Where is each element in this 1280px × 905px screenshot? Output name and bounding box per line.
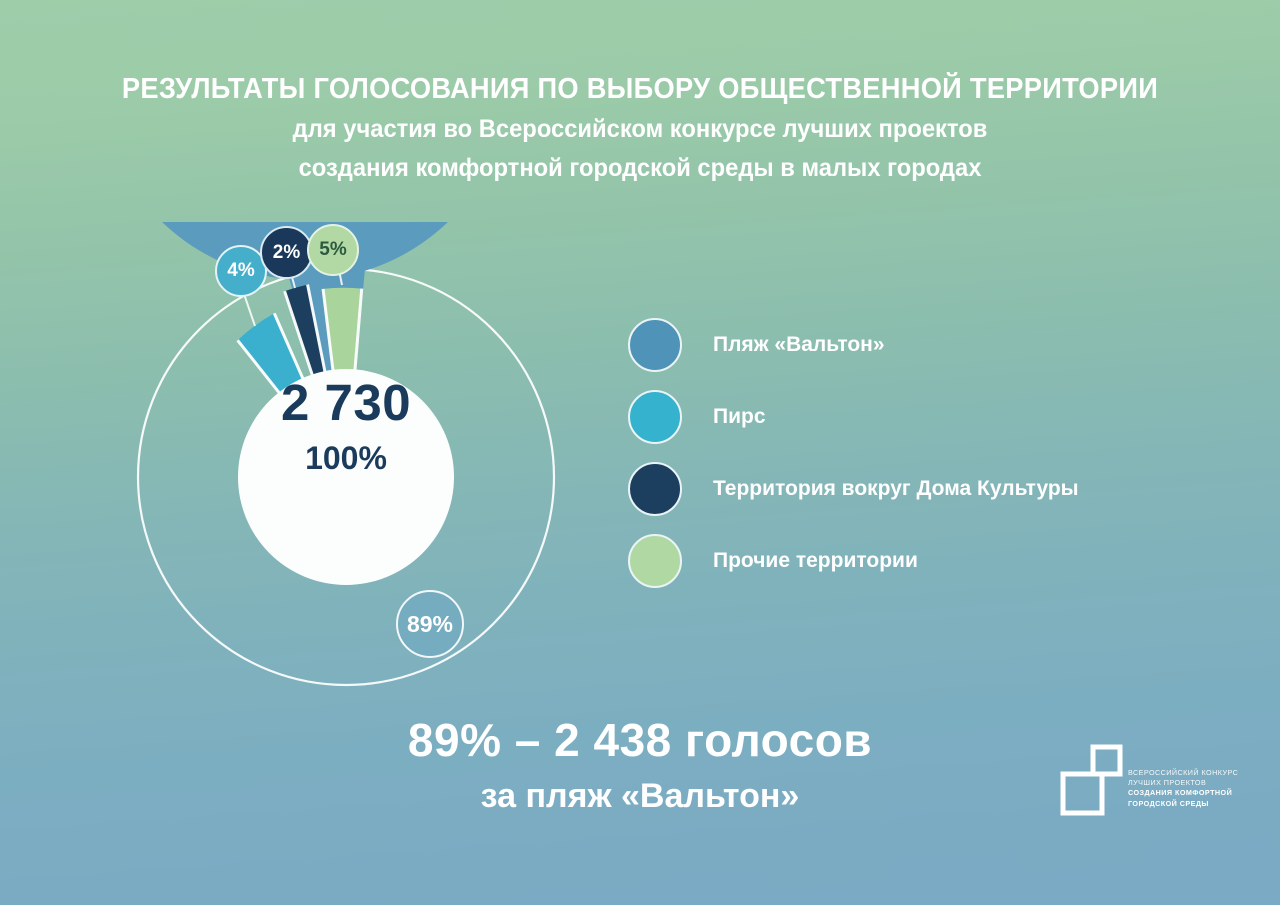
competition-logo: ВСЕРОССИЙСКИЙ КОНКУРС ЛУЧШИХ ПРОЕКТОВ СО… <box>1060 744 1240 826</box>
logo-squares-icon <box>1060 744 1124 816</box>
logo-text-block: ВСЕРОССИЙСКИЙ КОНКУРС ЛУЧШИХ ПРОЕКТОВ СО… <box>1128 768 1238 809</box>
legend-swatch-icon-other <box>628 534 682 588</box>
logo-line-3: СОЗДАНИЯ КОМФОРТНОЙ <box>1128 788 1238 798</box>
legend-label-culture-house: Территория вокруг Дома Культуры <box>713 477 1079 501</box>
title-block: РЕЗУЛЬТАТЫ ГОЛОСОВАНИЯ ПО ВЫБОРУ ОБЩЕСТВ… <box>0 72 1280 186</box>
legend-label-beach: Пляж «Вальтон» <box>713 333 885 357</box>
chart-legend: Пляж «Вальтон» Пирс Территория вокруг До… <box>628 309 1228 597</box>
logo-line-1: ВСЕРОССИЙСКИЙ КОНКУРС <box>1128 768 1238 778</box>
legend-label-other: Прочие территории <box>713 549 918 573</box>
legend-swatch-icon-pier <box>628 390 682 444</box>
legend-swatch-icon-beach <box>628 318 682 372</box>
legend-item-other: Прочие территории <box>628 525 1228 597</box>
page-subtitle-line-2: создания комфортной городской среды в ма… <box>32 151 1248 186</box>
callout-bubble-culture-house: 2% <box>260 226 313 279</box>
legend-item-beach: Пляж «Вальтон» <box>628 309 1228 381</box>
legend-item-culture-house: Территория вокруг Дома Культуры <box>628 453 1228 525</box>
callout-bubble-other: 5% <box>307 224 359 276</box>
logo-line-2: ЛУЧШИХ ПРОЕКТОВ <box>1128 778 1238 788</box>
infographic-poster: РЕЗУЛЬТАТЫ ГОЛОСОВАНИЯ ПО ВЫБОРУ ОБЩЕСТВ… <box>0 0 1280 905</box>
page-subtitle-line-1: для участия во Всероссийском конкурсе лу… <box>32 112 1248 147</box>
callout-bubble-beach: 89% <box>396 590 464 658</box>
page-title: РЕЗУЛЬТАТЫ ГОЛОСОВАНИЯ ПО ВЫБОРУ ОБЩЕСТВ… <box>38 72 1241 107</box>
donut-hole <box>238 369 454 585</box>
donut-chart: 2 730 100% 4% 2% 5% 89% <box>118 222 608 692</box>
logo-line-4: ГОРОДСКОЙ СРЕДЫ <box>1128 799 1238 809</box>
donut-chart-svg <box>118 222 608 692</box>
legend-swatch-icon-culture-house <box>628 462 682 516</box>
legend-item-pier: Пирс <box>628 381 1228 453</box>
legend-label-pier: Пирс <box>713 405 766 429</box>
